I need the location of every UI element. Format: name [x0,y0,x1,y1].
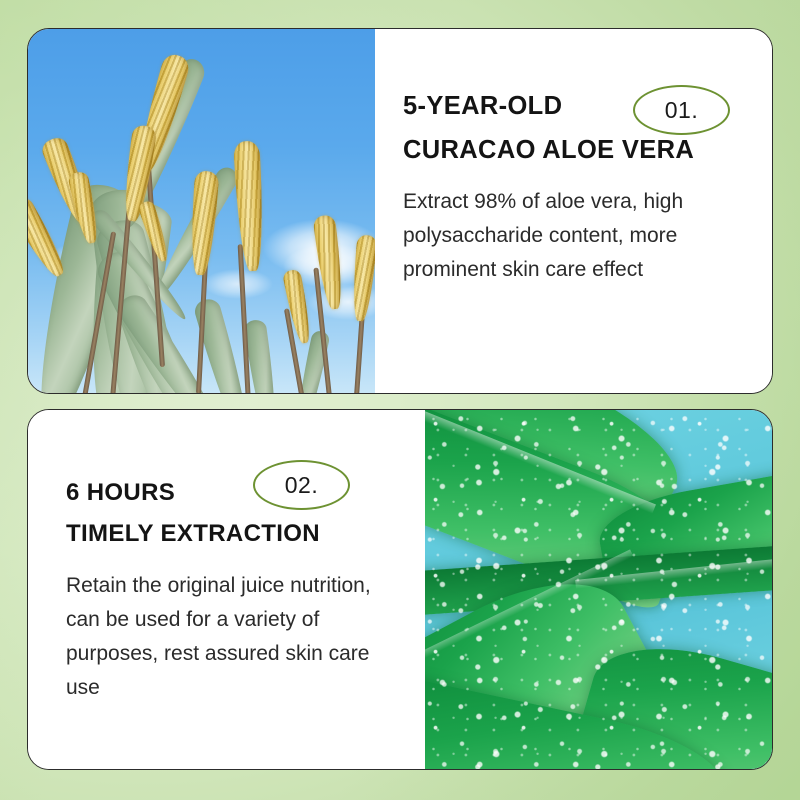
feature-card-2: 6 HOURS TIMELY EXTRACTION Retain the ori… [27,409,773,770]
badge-number: 02. [285,472,318,499]
step-number-badge-2: 02. [253,460,350,510]
card-1-body-text: Extract 98% of aloe vera, high polysacch… [403,185,730,287]
step-number-badge-1: 01. [633,85,730,135]
feature-card-1: 01. 5-YEAR-OLD CURACAO ALOE VERA Extract… [27,28,773,394]
fine-water-droplets [425,410,772,769]
aloe-plant-photo [28,29,375,393]
card-2-text-panel: 6 HOURS TIMELY EXTRACTION Retain the ori… [28,410,425,769]
card-1-text-panel: 01. 5-YEAR-OLD CURACAO ALOE VERA Extract… [375,29,772,393]
cloud-shape [203,269,273,299]
badge-number: 01. [665,97,698,124]
card-2-headline-line-2: TIMELY EXTRACTION [66,513,395,554]
card-1-headline-line-2: CURACAO ALOE VERA [403,129,730,173]
aloe-leaves-macro-photo [425,410,772,769]
card-2-body-text: Retain the original juice nutrition, can… [66,569,386,705]
